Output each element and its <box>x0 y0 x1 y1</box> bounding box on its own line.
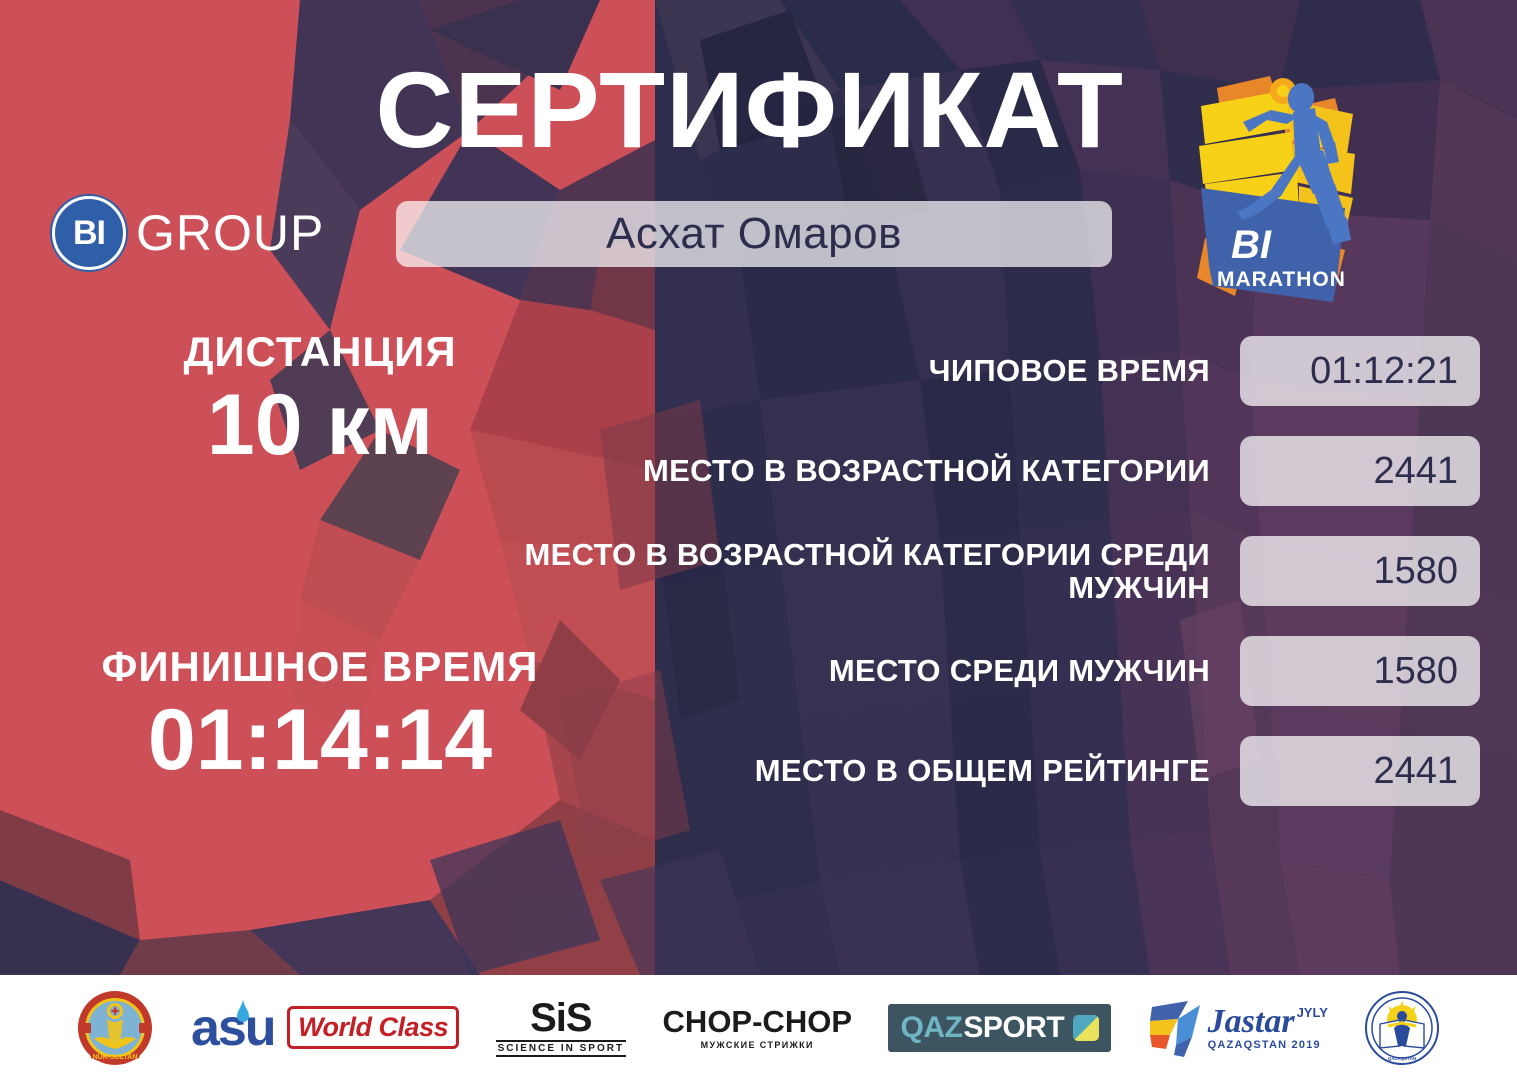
finish-time-value: 01:14:14 <box>60 693 580 788</box>
bi-marathon-logo: BI MARATHON <box>1175 58 1380 308</box>
stat-row: ЧИПОВОЕ ВРЕМЯ 01:12:21 <box>520 336 1480 406</box>
chop-chop-label: CHOP-CHOP <box>663 1006 852 1037</box>
jastar-tagline: QAZAQSTAN 2019 <box>1208 1039 1321 1051</box>
sponsor-bar: NUR-SULTAN asu World Class SiS SCIENCE I… <box>0 975 1517 1080</box>
distance-value: 10 км <box>60 378 580 473</box>
nur-sultan-emblem-icon: NUR-SULTAN <box>76 989 154 1067</box>
jastar-jyly-label: JYLY <box>1297 1005 1328 1020</box>
sponsor-qazsport: QAZ SPORT <box>888 988 1111 1068</box>
sponsor-chop-chop: CHOP-CHOP МУЖСКИЕ СТРИЖКИ <box>663 988 852 1068</box>
sponsor-sis: SiS SCIENCE IN SPORT <box>496 988 626 1068</box>
jastar-label: Jastar <box>1208 1005 1295 1039</box>
asu-droplet-icon <box>235 1000 251 1026</box>
participant-name: Асхат Омаров <box>606 209 902 259</box>
sponsor-world-class: World Class <box>287 988 459 1068</box>
stat-label: МЕСТО В ВОЗРАСТНОЙ КАТЕГОРИИ <box>520 454 1240 487</box>
qazsport-label-sport: SPORT <box>963 1011 1064 1045</box>
svg-text:NUR-SULTAN: NUR-SULTAN <box>93 1054 138 1061</box>
certificate: СЕРТИФИКАТ BI GROUP Асхат Омаров <box>0 0 1517 1080</box>
bi-badge-label: BI <box>73 214 105 253</box>
chop-chop-tagline: МУЖСКИЕ СТРИЖКИ <box>701 1040 814 1050</box>
sponsor-jastar-jyly: Jastar JYLY QAZAQSTAN 2019 <box>1148 988 1328 1068</box>
stat-value: 2441 <box>1240 436 1480 506</box>
bi-marathon-mark-icon: BI MARATHON <box>1175 58 1380 308</box>
stat-label: ЧИПОВОЕ ВРЕМЯ <box>520 354 1240 387</box>
ministry-emblem-icon: QAZAQSTAN <box>1364 990 1440 1066</box>
distance-label: ДИСТАНЦИЯ <box>60 330 580 374</box>
stats-list: ЧИПОВОЕ ВРЕМЯ 01:12:21 МЕСТО В ВОЗРАСТНО… <box>520 336 1480 836</box>
stat-label: МЕСТО В ОБЩЕМ РЕЙТИНГЕ <box>520 754 1240 787</box>
svg-text:MARATHON: MARATHON <box>1217 268 1346 291</box>
stat-value: 2441 <box>1240 736 1480 806</box>
finish-time-label: ФИНИШНОЕ ВРЕМЯ <box>60 645 580 689</box>
stat-value: 1580 <box>1240 536 1480 606</box>
svg-text:QAZAQSTAN: QAZAQSTAN <box>1388 1056 1416 1061</box>
participant-name-field: Асхат Омаров <box>396 201 1112 267</box>
sis-label: SiS <box>530 998 591 1038</box>
sponsor-ministry: QAZAQSTAN <box>1364 988 1440 1068</box>
svg-text:BI: BI <box>1231 223 1272 267</box>
stat-row: МЕСТО В ОБЩЕМ РЕЙТИНГЕ 2441 <box>520 736 1480 806</box>
stat-value: 1580 <box>1240 636 1480 706</box>
qazsport-mark-icon <box>1073 1015 1099 1041</box>
bi-group-logo: BI GROUP <box>52 196 324 270</box>
sponsor-nur-sultan: NUR-SULTAN <box>76 988 154 1068</box>
page-title: СЕРТИФИКАТ <box>0 56 1160 164</box>
distance-block: ДИСТАНЦИЯ 10 км <box>60 330 580 473</box>
stat-row: МЕСТО В ВОЗРАСТНОЙ КАТЕГОРИИ СРЕДИ МУЖЧИ… <box>520 536 1480 606</box>
stat-row: МЕСТО СРЕДИ МУЖЧИН 1580 <box>520 636 1480 706</box>
bi-group-word: GROUP <box>136 204 324 262</box>
stat-row: МЕСТО В ВОЗРАСТНОЙ КАТЕГОРИИ 2441 <box>520 436 1480 506</box>
finish-time-block: ФИНИШНОЕ ВРЕМЯ 01:14:14 <box>60 645 580 788</box>
jastar-arrow-icon <box>1148 997 1204 1059</box>
stat-value: 01:12:21 <box>1240 336 1480 406</box>
asu-label: asu <box>191 1002 275 1054</box>
sponsor-asu: asu <box>191 988 251 1068</box>
stat-label: МЕСТО СРЕДИ МУЖЧИН <box>520 654 1240 687</box>
sis-tagline: SCIENCE IN SPORT <box>496 1040 626 1057</box>
bi-badge-icon: BI <box>52 196 126 270</box>
qazsport-label-qaz: QAZ <box>900 1011 962 1045</box>
stat-label: МЕСТО В ВОЗРАСТНОЙ КАТЕГОРИИ СРЕДИ МУЖЧИ… <box>520 538 1240 605</box>
world-class-label: World Class <box>298 1012 448 1043</box>
